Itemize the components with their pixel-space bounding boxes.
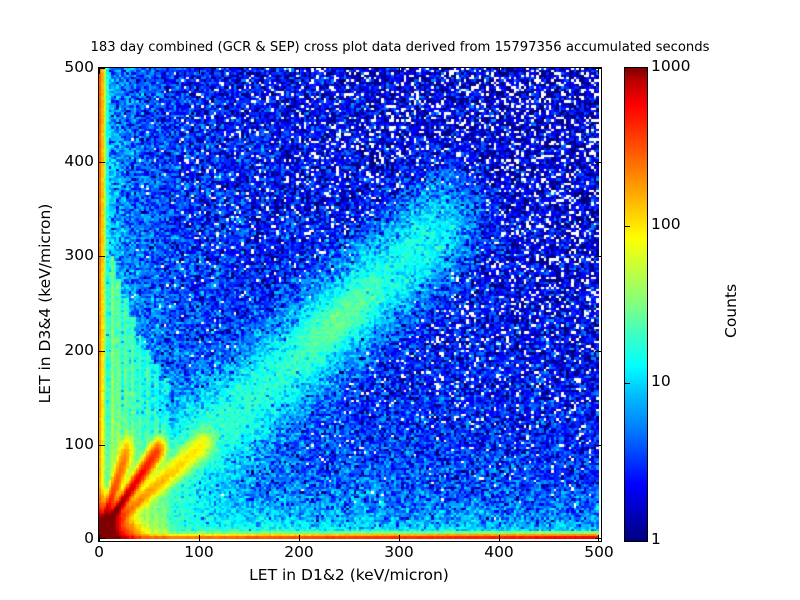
y-tick-label-500: 500 (64, 60, 94, 76)
y-axis-title: LET in D3&4 (keV/micron) (36, 67, 54, 540)
colorbar-label-1000: 1000 (651, 59, 690, 75)
colorbar-tick-10 (625, 383, 630, 384)
colorbar-tick-100 (625, 226, 630, 227)
scatter-density-plot (99, 68, 599, 539)
x-tick-label-0: 0 (69, 545, 129, 561)
y-tick-label-300: 300 (64, 248, 94, 264)
title-line-1: 183 day combined (GCR & SEP) cross plot … (0, 39, 800, 57)
x-tick-label-300: 300 (369, 545, 429, 561)
colorbar[interactable] (624, 67, 648, 542)
colorbar-title: Counts (722, 284, 740, 338)
y-tick-label-200: 200 (64, 343, 94, 359)
y-tick-label-100: 100 (64, 437, 94, 453)
x-axis-title: LET in D1&2 (keV/micron) (98, 566, 600, 584)
colorbar-label-100: 100 (651, 217, 681, 233)
y-tick-label-400: 400 (64, 154, 94, 170)
x-tick-label-100: 100 (169, 545, 229, 561)
x-tick-label-500: 500 (569, 545, 629, 561)
colorbar-gradient (625, 68, 647, 541)
x-tick-label-400: 400 (469, 545, 529, 561)
colorbar-label-1: 1 (651, 532, 661, 548)
plot-area[interactable] (98, 67, 602, 542)
colorbar-label-10: 10 (651, 374, 671, 390)
x-tick-label-200: 200 (269, 545, 329, 561)
